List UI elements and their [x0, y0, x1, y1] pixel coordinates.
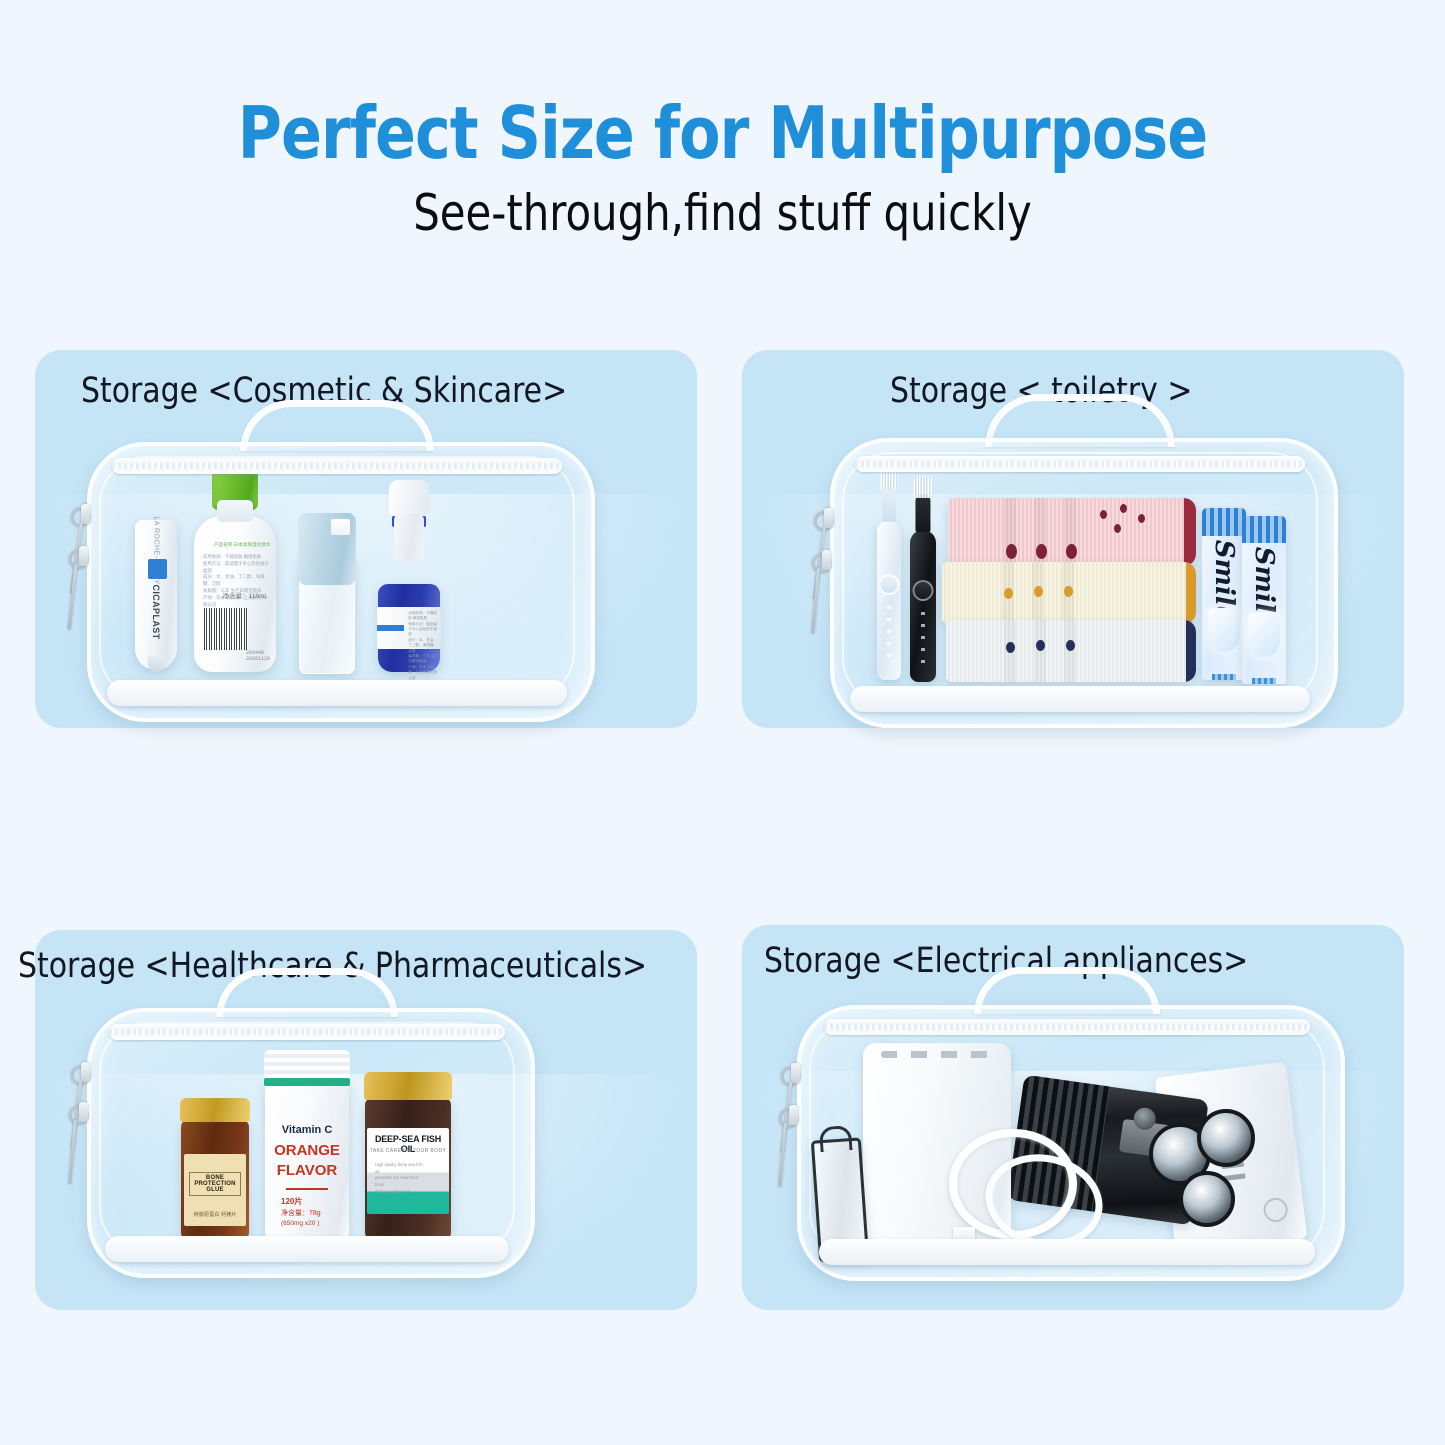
toothbrush-power-button[interactable]: [879, 574, 900, 595]
panel-stage-healthcare: BONE PROTECTION GLUE 骨胶原蛋白 钙镁片 Vitamin C…: [35, 930, 697, 1310]
pouch-zipper-teeth: [112, 463, 562, 469]
lotion-label-body: 适用肤质：干燥肌肤 敏感肌肤 使用方法：取适量于手心后轻拍于面部 成分：水、甘油…: [203, 554, 269, 609]
page-title: Perfect Size for Multipurpose: [51, 96, 1395, 172]
zipper-pull-tab-lower[interactable]: [822, 550, 831, 570]
tooth-graphic: [1248, 613, 1280, 657]
toothbrush-bristles: [914, 476, 933, 498]
zipper-pull-tail-lower: [68, 564, 78, 630]
power-strip-indicator: [1262, 1197, 1289, 1224]
toothbrush-power-button[interactable]: [913, 580, 934, 601]
zipper-pull-tail-lower: [68, 1120, 77, 1184]
toothpaste-cap: [1212, 674, 1237, 680]
toothbrush-mode-leds: [921, 612, 925, 666]
towel-dot: [1114, 524, 1121, 533]
toothbrush-mode-leds: [887, 606, 891, 660]
zipper-pull-tab-upper[interactable]: [824, 508, 833, 528]
towel-edge-stripe: [1186, 562, 1196, 624]
clear-pouch-electrical: [797, 1005, 1337, 1273]
page-subtitle: See-through,find stuff quickly: [51, 184, 1395, 242]
towel-fold: [1034, 620, 1046, 682]
pouch-base-trim: [819, 1239, 1316, 1265]
towel-dot: [1036, 640, 1045, 651]
fish-oil-label-body: High quality deep sea fish oil, promotes…: [375, 1162, 427, 1196]
toothpaste-crimp: [1202, 508, 1246, 536]
toothpaste-tube-1: Smile: [1242, 516, 1286, 684]
cream-tube-product: CICAPLAST: [151, 584, 161, 639]
tooth-graphic: [1208, 608, 1240, 653]
amber-bottle-label-title: BONE PROTECTION GLUE: [189, 1172, 242, 1196]
towel-dot: [1006, 642, 1015, 653]
vitamin-c-seal-ring: [264, 1078, 350, 1086]
fish-oil-bottle-label: DEEP-SEA FISH OIL TAKE CARE OF YOUR BODY…: [367, 1128, 450, 1214]
pouch-base-trim: [105, 1236, 510, 1262]
vitamin-c-divider: [286, 1188, 328, 1190]
towel-dot: [1064, 586, 1073, 597]
pouch-base-trim: [107, 680, 567, 706]
toothpaste-tube-2: Smile: [1202, 508, 1246, 680]
amber-supplement-bottle: BONE PROTECTION GLUE 骨胶原蛋白 钙镁片: [181, 1120, 249, 1242]
lotion-neck: [217, 500, 253, 522]
toothbrush-neck: [915, 494, 930, 532]
toothpaste-crimp: [1242, 516, 1286, 543]
cream-tube: LA ROCHE-POSAY CICAPLAST: [135, 520, 177, 670]
header-block: Perfect Size for Multipurpose See-throug…: [0, 96, 1445, 242]
amber-bottle-label-sub: 骨胶原蛋白 钙镁片: [184, 1211, 247, 1218]
towel-dot: [1120, 504, 1127, 513]
lotion-volume: 净含量：118mL: [223, 590, 268, 600]
zipper-pull-tab-upper[interactable]: [791, 1063, 800, 1083]
towel-edge-stripe: [1186, 620, 1196, 682]
lotion-label-heading: 产品名称 日本高保湿化妆水: [214, 542, 270, 548]
panel-stage-toiletry: Smile Smile: [742, 350, 1404, 728]
toothbrush-neck: [882, 486, 896, 522]
towel-fold: [1064, 620, 1076, 682]
fish-oil-bottle-lid: [364, 1072, 452, 1100]
towel-dot: [1006, 544, 1017, 559]
clear-pouch-cosmetic: LA ROCHE-POSAY CICAPLAST 产品名称 日本高保湿化妆水 适…: [87, 442, 587, 714]
panel-stage-cosmetic: LA ROCHE-POSAY CICAPLAST 产品名称 日本高保湿化妆水 适…: [35, 350, 697, 728]
serum-paper-wrap: 适用肤质：干燥肌肤 敏感肌肤 使用方法：取适量于手心后轻拍于面部 成分：水、甘油…: [377, 607, 441, 649]
flashlight-lens-3: [1179, 1171, 1235, 1227]
zipper-pull-tail-lower: [778, 1123, 787, 1187]
blue-serum-bottle: 适用肤质：干燥肌肤 敏感肌肤 使用方法：取适量于手心后轻拍于面部 成分：水、甘油…: [378, 584, 440, 672]
amber-bottle-lid: [180, 1098, 249, 1122]
pouch-zipper-teeth: [109, 1029, 505, 1035]
towel-dot: [1036, 544, 1047, 559]
serum-pump-top: [389, 480, 429, 518]
towel-pink: [948, 498, 1196, 566]
towel-white: [946, 620, 1196, 682]
zipper-pull-tab-upper[interactable]: [81, 1062, 90, 1082]
panel-stage-electrical: [742, 925, 1404, 1310]
panel-cosmetic-skincare: Storage <Cosmetic & Skincare> LA ROCHE-P…: [35, 350, 697, 728]
towel-cream: [942, 562, 1196, 624]
zipper-pull-tab-lower[interactable]: [79, 546, 88, 566]
towel-dot: [1034, 586, 1043, 597]
towel-dot: [1066, 640, 1075, 651]
fish-oil-label-sub: TAKE CARE OF YOUR BODY: [367, 1148, 450, 1154]
pouch-zipper-teeth: [824, 1024, 1310, 1030]
vitamin-c-line3: FLAVOR: [265, 1162, 349, 1179]
toner-top-sticker: [331, 519, 349, 535]
clear-pouch-healthcare: BONE PROTECTION GLUE 骨胶原蛋白 钙镁片 Vitamin C…: [87, 1008, 527, 1270]
vitamin-c-line1: Vitamin C: [265, 1124, 349, 1136]
zipper-pull-tab-lower[interactable]: [789, 1105, 798, 1125]
electric-toothbrush-black: [910, 530, 936, 682]
usb-drive-keyring-loop: [819, 1125, 853, 1152]
vitamin-c-weight: 净含量：78g: [281, 1208, 321, 1218]
fish-oil-bottle: DEEP-SEA FISH OIL TAKE CARE OF YOUR BODY…: [365, 1098, 451, 1242]
panel-healthcare-pharmaceuticals: Storage <Healthcare & Pharmaceuticals> B…: [35, 930, 697, 1310]
vitamin-c-bottle: Vitamin C ORANGE FLAVOR 120片 净含量：78g (65…: [265, 1080, 349, 1242]
towel-dot: [1138, 514, 1145, 523]
lotion-bottle: 产品名称 日本高保湿化妆水 适用肤质：干燥肌肤 敏感肌肤 使用方法：取适量于手心…: [194, 516, 276, 672]
towel-dot: [1100, 510, 1107, 519]
towel-edge-stripe: [1184, 498, 1196, 566]
pouch-base-trim: [850, 686, 1310, 712]
power-bank-ports: [881, 1051, 993, 1058]
electric-toothbrush-white: [877, 520, 901, 680]
flashlight-lens-2: [1197, 1109, 1255, 1167]
panel-toiletry: Storage < toiletry >: [742, 350, 1404, 728]
pouch-zipper-top: [109, 1024, 505, 1040]
lotion-barcode: [204, 608, 248, 650]
clear-pouch-toiletry: Smile Smile: [830, 438, 1330, 720]
vitamin-c-dose: (650mg x20 ): [281, 1220, 319, 1227]
pouch-zipper-top: [824, 1019, 1310, 1035]
towel-dot: [1004, 588, 1013, 599]
pouch-zipper-top: [855, 456, 1305, 472]
cream-tube-cap: [148, 656, 163, 672]
panel-electrical-appliances: Storage <Electrical appliances>: [742, 925, 1404, 1310]
serum-wrap-fineprint: 适用肤质：干燥肌肤 敏感肌肤 使用方法：取适量于手心后轻拍于面部 成分：水、甘油…: [408, 611, 438, 681]
pouch-zipper-teeth: [855, 461, 1305, 467]
zipper-pull-tab-lower[interactable]: [79, 1102, 88, 1122]
zipper-pull-tab-upper[interactable]: [81, 504, 90, 524]
serum-wrap-stripe: [377, 625, 404, 631]
amber-bottle-label: BONE PROTECTION GLUE 骨胶原蛋白 钙镁片: [184, 1154, 247, 1226]
frosted-toner-bottle: [299, 558, 355, 674]
lotion-batch-code: 203448 20261129: [246, 650, 270, 662]
toothpaste-cap: [1252, 678, 1277, 684]
zipper-pull-tail-lower: [811, 568, 820, 634]
towel-dot: [1066, 544, 1077, 559]
pouch-zipper-top: [112, 458, 562, 474]
serum-pump-body: [394, 514, 424, 562]
vitamin-c-line2: ORANGE: [265, 1142, 349, 1159]
cream-tube-color-swatch: [148, 559, 167, 579]
vitamin-c-count: 120片: [281, 1196, 302, 1207]
